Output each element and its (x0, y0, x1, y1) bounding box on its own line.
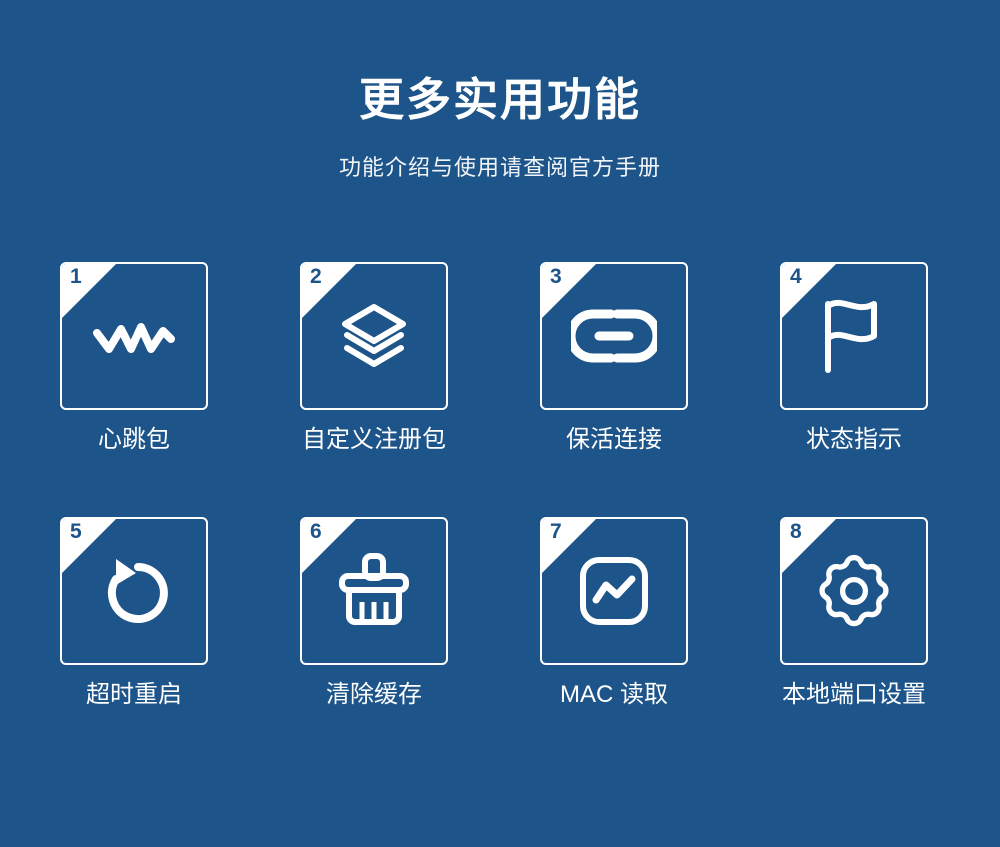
feature-card-label: 状态指示 (780, 410, 928, 455)
feature-overview-page: 更多实用功能 功能介绍与使用请查阅官方手册 1 心跳包 2 (0, 0, 1000, 847)
chain-link-icon (542, 264, 686, 408)
feature-card-label: 本地端口设置 (780, 665, 928, 710)
feature-card-label: 清除缓存 (300, 665, 448, 710)
wave-in-square-icon (542, 519, 686, 663)
feature-card-8[interactable]: 8 本地端口设置 (780, 517, 928, 710)
flag-icon (782, 264, 926, 408)
page-subtitle: 功能介绍与使用请查阅官方手册 (0, 126, 1000, 182)
feature-card-6[interactable]: 6 清除缓存 (300, 517, 448, 710)
feature-card-tile[interactable]: 6 (300, 517, 448, 665)
feature-card-tile[interactable]: 8 (780, 517, 928, 665)
page-title: 更多实用功能 (0, 74, 1000, 126)
feature-card-tile[interactable]: 1 (60, 262, 208, 410)
feature-card-tile[interactable]: 7 (540, 517, 688, 665)
feature-card-tile[interactable]: 2 (300, 262, 448, 410)
feature-card-label: MAC 读取 (540, 665, 688, 710)
feature-card-3[interactable]: 3 保活连接 (540, 262, 688, 455)
feature-card-1[interactable]: 1 心跳包 (60, 262, 208, 455)
feature-card-tile[interactable]: 4 (780, 262, 928, 410)
broom-brush-icon (302, 519, 446, 663)
feature-card-label: 超时重启 (60, 665, 208, 710)
feature-card-5[interactable]: 5 超时重启 (60, 517, 208, 710)
feature-card-tile[interactable]: 5 (60, 517, 208, 665)
feature-card-label: 心跳包 (60, 410, 208, 455)
feature-card-tile[interactable]: 3 (540, 262, 688, 410)
layers-stack-icon (302, 264, 446, 408)
restart-arrow-icon (62, 519, 206, 663)
feature-card-2[interactable]: 2 自定义注册包 (300, 262, 448, 455)
feature-card-7[interactable]: 7 MAC 读取 (540, 517, 688, 710)
feature-card-4[interactable]: 4 状态指示 (780, 262, 928, 455)
heartbeat-wave-icon (62, 264, 206, 408)
feature-card-label: 自定义注册包 (300, 410, 448, 455)
page-header: 更多实用功能 功能介绍与使用请查阅官方手册 (0, 0, 1000, 182)
gear-icon (782, 519, 926, 663)
feature-card-label: 保活连接 (540, 410, 688, 455)
feature-grid: 1 心跳包 2 (60, 262, 960, 710)
